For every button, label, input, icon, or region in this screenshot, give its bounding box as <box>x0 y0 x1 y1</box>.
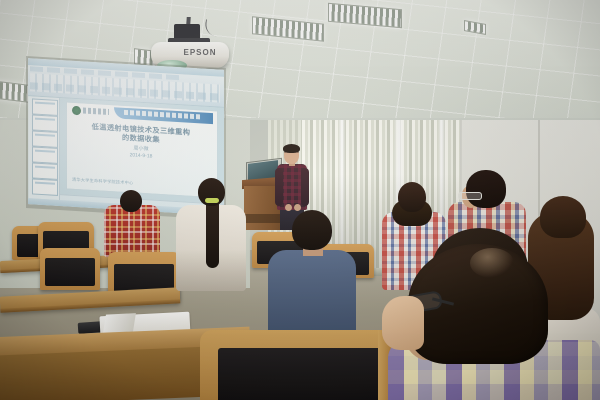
projector-brand-label: EPSON <box>176 48 224 57</box>
presenter-hand-left <box>285 204 292 211</box>
chair-pad <box>45 258 94 286</box>
person-hand <box>382 296 424 350</box>
person-torso <box>104 205 160 257</box>
person-head <box>292 210 332 250</box>
presenter-arm-right <box>301 168 309 206</box>
person-head <box>120 190 142 212</box>
person-head <box>398 182 426 212</box>
classroom-photo: EPSON 低温透射电镜技术及三维重构 的数据收集 周小微 2014-9-18 … <box>0 0 600 400</box>
presenter-hand-right <box>294 204 301 211</box>
eyeglasses-icon <box>458 192 482 200</box>
person-ponytail <box>206 200 219 268</box>
person-head <box>466 170 506 208</box>
presenter-arm-left <box>275 168 283 206</box>
presenter-hair <box>283 144 300 153</box>
chair[interactable] <box>40 248 100 290</box>
hair-tie <box>205 198 219 203</box>
hair-highlight <box>470 248 514 278</box>
person-head <box>540 196 586 238</box>
foreground-chair-pad <box>218 348 384 400</box>
